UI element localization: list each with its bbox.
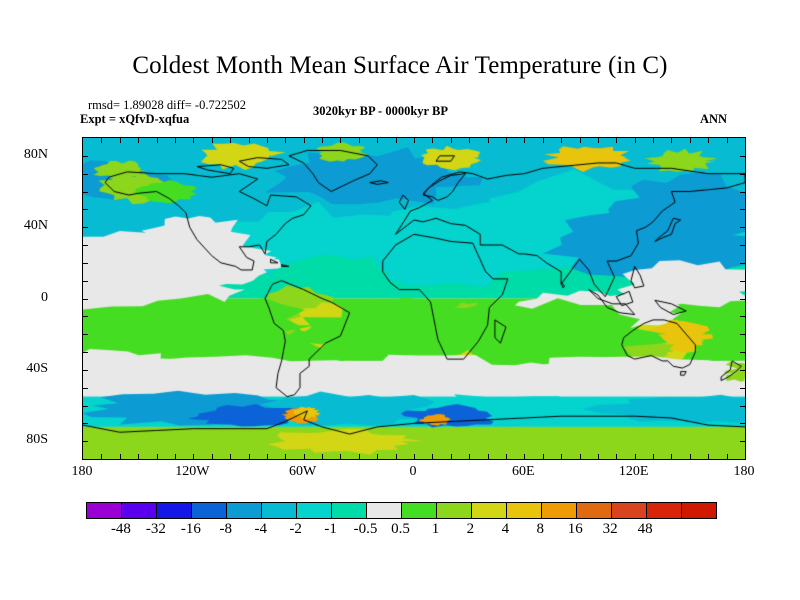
x-tick-label: 0 (410, 464, 417, 480)
colorbar-band-1 (122, 503, 157, 518)
axis-tick (230, 138, 231, 143)
y-tick-label: 40S (26, 361, 48, 377)
axis-tick (727, 138, 728, 143)
colorbar-band-14 (577, 503, 612, 518)
axis-tick (101, 138, 102, 143)
axis-tick (414, 454, 415, 459)
axis-tick (175, 454, 176, 459)
colorbar-tick-label: -48 (111, 521, 131, 538)
axis-tick (740, 245, 745, 246)
axis-tick (322, 454, 323, 459)
colorbar-band-13 (542, 503, 577, 518)
axis-tick (635, 138, 636, 143)
axis-tick (580, 454, 581, 459)
axis-tick (157, 454, 158, 459)
colorbar (86, 502, 717, 519)
axis-tick (249, 454, 250, 459)
axis-tick (83, 388, 88, 389)
axis-tick (83, 174, 88, 175)
axis-tick (727, 454, 728, 459)
axis-tick (671, 454, 672, 459)
colorbar-tick-label: 8 (537, 521, 545, 538)
axis-tick (83, 370, 88, 371)
axis-tick (506, 138, 507, 143)
axis-tick (432, 138, 433, 143)
colorbar-tick-label: -4 (254, 521, 267, 538)
axis-tick (616, 138, 617, 143)
axis-tick (322, 138, 323, 143)
axis-tick (740, 334, 745, 335)
axis-tick (340, 454, 341, 459)
axis-tick (359, 454, 360, 459)
axis-tick (740, 316, 745, 317)
axis-tick (101, 454, 102, 459)
axis-tick (175, 138, 176, 143)
axis-tick (635, 454, 636, 459)
axis-tick (304, 138, 305, 143)
axis-tick (708, 138, 709, 143)
axis-tick (120, 454, 121, 459)
axis-tick (83, 227, 88, 228)
axis-tick (83, 352, 88, 353)
axis-tick (138, 138, 139, 143)
axis-tick (83, 209, 88, 210)
colorbar-tick-label: -0.5 (354, 521, 378, 538)
y-tick-label: 40N (24, 218, 48, 234)
axis-tick (83, 192, 88, 193)
colorbar-band-9 (402, 503, 437, 518)
colorbar-band-2 (157, 503, 192, 518)
axis-tick (740, 370, 745, 371)
axis-tick (83, 263, 88, 264)
axis-tick (340, 138, 341, 143)
axis-tick (249, 138, 250, 143)
axis-tick (561, 454, 562, 459)
axis-tick (524, 454, 525, 459)
axis-tick (83, 334, 88, 335)
axis-tick (616, 454, 617, 459)
figure-root: Coldest Month Mean Surface Air Temperatu… (0, 0, 800, 600)
axis-tick (414, 138, 415, 143)
colorbar-tick-label: 32 (603, 521, 618, 538)
axis-tick (740, 281, 745, 282)
colorbar-band-15 (612, 503, 647, 518)
axis-tick (543, 138, 544, 143)
colorbar-tick-label: 48 (638, 521, 653, 538)
colorbar-tick-label: -16 (181, 521, 201, 538)
annotation-rmsd: rmsd= 1.89028 diff= -0.722502 (88, 98, 246, 113)
annotation-experiment: Expt = xQfvD-xqfua (80, 112, 189, 127)
axis-tick (740, 192, 745, 193)
colorbar-band-16 (647, 503, 682, 518)
axis-tick (83, 281, 88, 282)
colorbar-tick-label: 1 (432, 521, 440, 538)
annotation-period: 3020kyr BP - 0000kyr BP (313, 104, 448, 119)
axis-tick (671, 138, 672, 143)
y-tick-label: 80S (26, 432, 48, 448)
axis-tick (267, 138, 268, 143)
annotation-season: ANN (700, 112, 727, 127)
colorbar-band-0 (87, 503, 122, 518)
axis-tick (543, 454, 544, 459)
axis-tick (193, 454, 194, 459)
page-title: Coldest Month Mean Surface Air Temperatu… (0, 52, 800, 80)
colorbar-band-3 (192, 503, 227, 518)
axis-tick (598, 454, 599, 459)
colorbar-band-7 (332, 503, 367, 518)
axis-tick (267, 454, 268, 459)
axis-tick (285, 454, 286, 459)
axis-tick (653, 138, 654, 143)
map-plot-area (82, 137, 746, 460)
colorbar-band-4 (227, 503, 262, 518)
colorbar-band-5 (262, 503, 297, 518)
colorbar-tick-label: -32 (146, 521, 166, 538)
axis-tick (285, 138, 286, 143)
axis-tick (230, 454, 231, 459)
axis-tick (469, 454, 470, 459)
axis-tick (83, 316, 88, 317)
axis-tick (740, 227, 745, 228)
x-tick-label: 120W (175, 464, 209, 480)
axis-tick (561, 138, 562, 143)
axis-tick (653, 454, 654, 459)
y-tick-label: 0 (41, 290, 48, 306)
axis-tick (83, 299, 88, 300)
axis-tick (83, 156, 88, 157)
colorbar-tick-label: -2 (289, 521, 302, 538)
colorbar-tick-label: -1 (324, 521, 337, 538)
axis-tick (451, 454, 452, 459)
colorbar-tick-label: 16 (568, 521, 583, 538)
axis-tick (193, 138, 194, 143)
colorbar-tick-label: 2 (467, 521, 475, 538)
colorbar-tick-label: -8 (220, 521, 233, 538)
axis-tick (740, 174, 745, 175)
colorbar-band-11 (472, 503, 507, 518)
axis-tick (212, 138, 213, 143)
colorbar-band-8 (367, 503, 402, 518)
axis-tick (304, 454, 305, 459)
axis-tick (83, 441, 88, 442)
axis-tick (83, 423, 88, 424)
colorbar-tick-label: 0.5 (391, 521, 410, 538)
axis-tick (396, 454, 397, 459)
axis-tick (740, 209, 745, 210)
axis-tick (469, 138, 470, 143)
colorbar-band-12 (507, 503, 542, 518)
axis-tick (740, 388, 745, 389)
axis-tick (396, 138, 397, 143)
y-tick-label: 80N (24, 147, 48, 163)
axis-tick (83, 245, 88, 246)
axis-tick (377, 138, 378, 143)
colorbar-band-17 (682, 503, 716, 518)
axis-tick (740, 406, 745, 407)
x-tick-label: 180 (734, 464, 755, 480)
axis-tick (488, 454, 489, 459)
axis-tick (740, 423, 745, 424)
axis-tick (740, 263, 745, 264)
axis-tick (83, 406, 88, 407)
axis-tick (377, 454, 378, 459)
axis-tick (212, 454, 213, 459)
colorbar-band-10 (437, 503, 472, 518)
x-tick-label: 60W (289, 464, 316, 480)
x-tick-label: 60E (512, 464, 535, 480)
axis-tick (138, 454, 139, 459)
axis-tick (740, 299, 745, 300)
axis-tick (580, 138, 581, 143)
axis-tick (451, 138, 452, 143)
axis-tick (740, 352, 745, 353)
temperature-anomaly-map (83, 138, 745, 459)
colorbar-band-6 (297, 503, 332, 518)
axis-tick (120, 138, 121, 143)
axis-tick (740, 441, 745, 442)
axis-tick (740, 156, 745, 157)
axis-tick (708, 454, 709, 459)
colorbar-tick-label: 4 (502, 521, 510, 538)
axis-tick (359, 138, 360, 143)
axis-tick (157, 138, 158, 143)
axis-tick (524, 138, 525, 143)
axis-tick (432, 454, 433, 459)
x-tick-label: 180 (72, 464, 93, 480)
axis-tick (506, 454, 507, 459)
x-tick-label: 120E (619, 464, 649, 480)
axis-tick (690, 138, 691, 143)
axis-tick (690, 454, 691, 459)
axis-tick (488, 138, 489, 143)
axis-tick (598, 138, 599, 143)
